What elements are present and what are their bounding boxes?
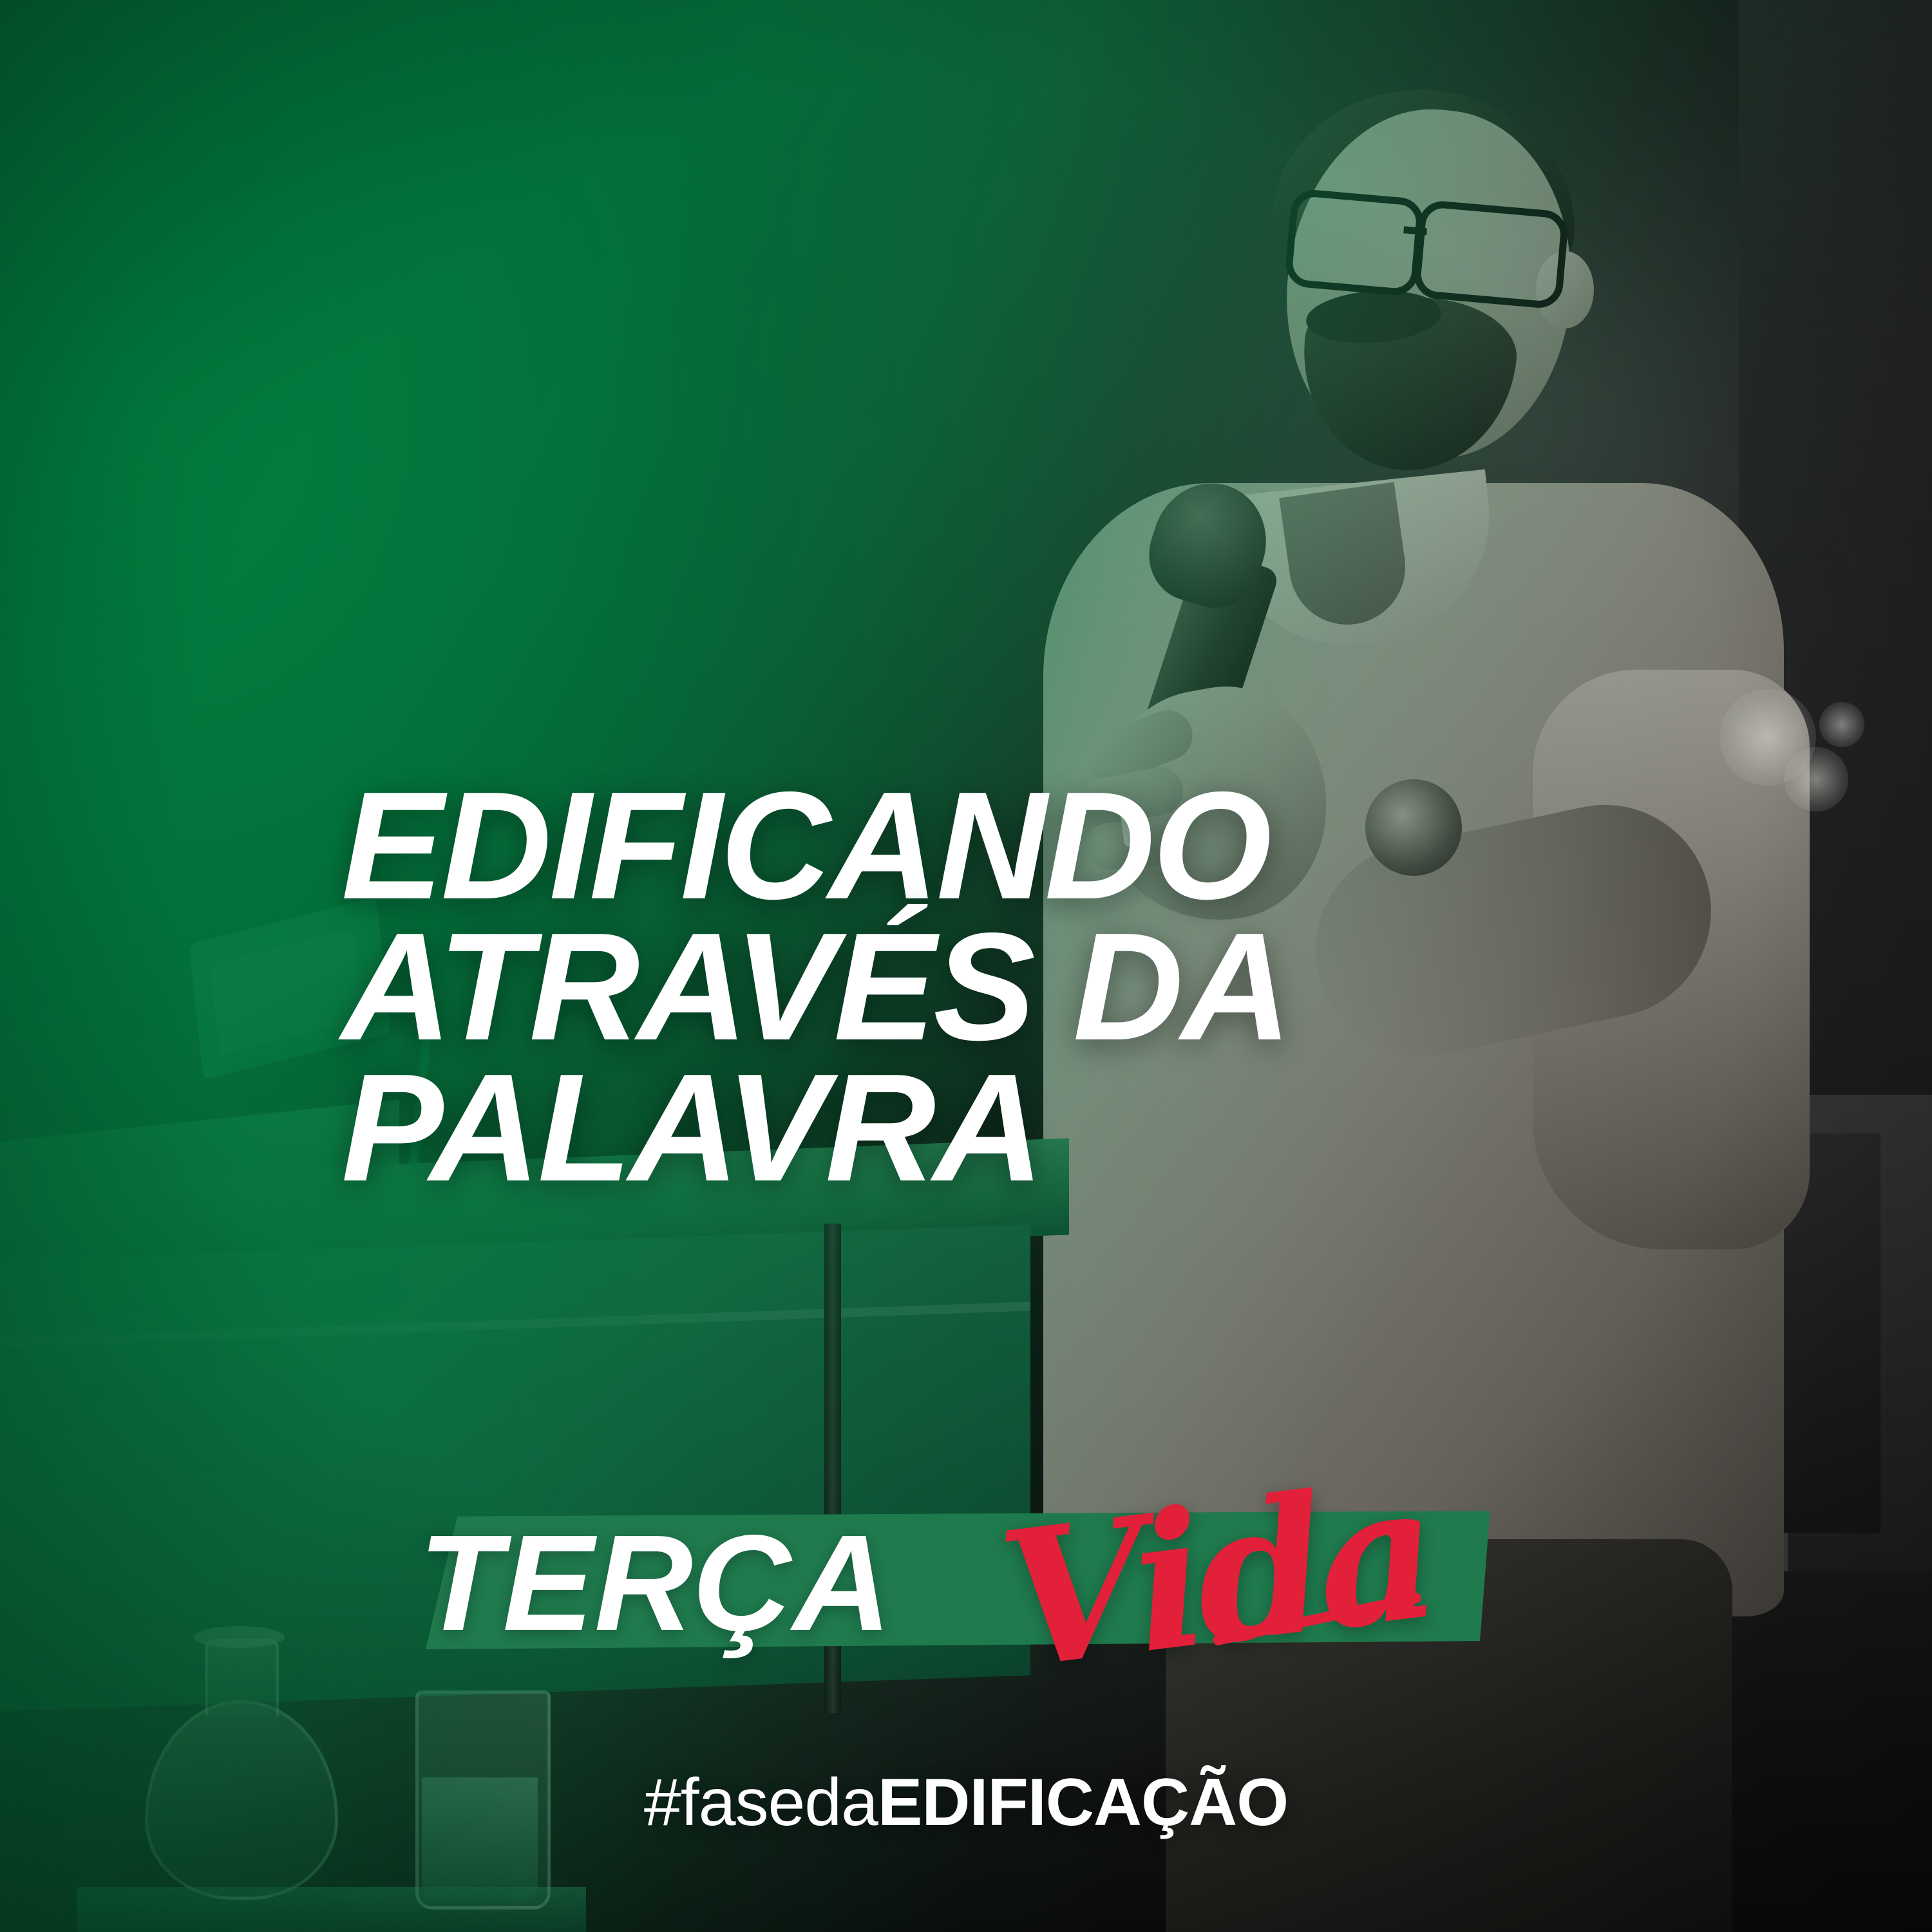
hashtag-bold-part: EDIFICAÇÃO — [878, 1765, 1288, 1840]
headline-line-3: PALAVRA — [341, 1058, 1668, 1199]
text-overlay: EDIFICANDO ATRAVÉS DA PALAVRA TERÇA Vida… — [0, 0, 1932, 1932]
headline-line-2: ATRAVÉS DA — [341, 917, 1668, 1058]
poster-canvas: EDIFICANDO ATRAVÉS DA PALAVRA TERÇA Vida… — [0, 0, 1932, 1932]
logo-word-terca: TERÇA — [419, 1504, 892, 1662]
hashtag-light-part: faseda — [681, 1765, 878, 1840]
headline-line-1: EDIFICANDO — [341, 776, 1668, 917]
hashtag-symbol: # — [644, 1765, 681, 1840]
hashtag: #fasedaEDIFICAÇÃO — [0, 1765, 1932, 1841]
event-logo: TERÇA Vida — [419, 1481, 1552, 1674]
headline: EDIFICANDO ATRAVÉS DA PALAVRA — [341, 776, 1668, 1199]
logo-word-vida: Vida — [990, 1442, 1441, 1711]
